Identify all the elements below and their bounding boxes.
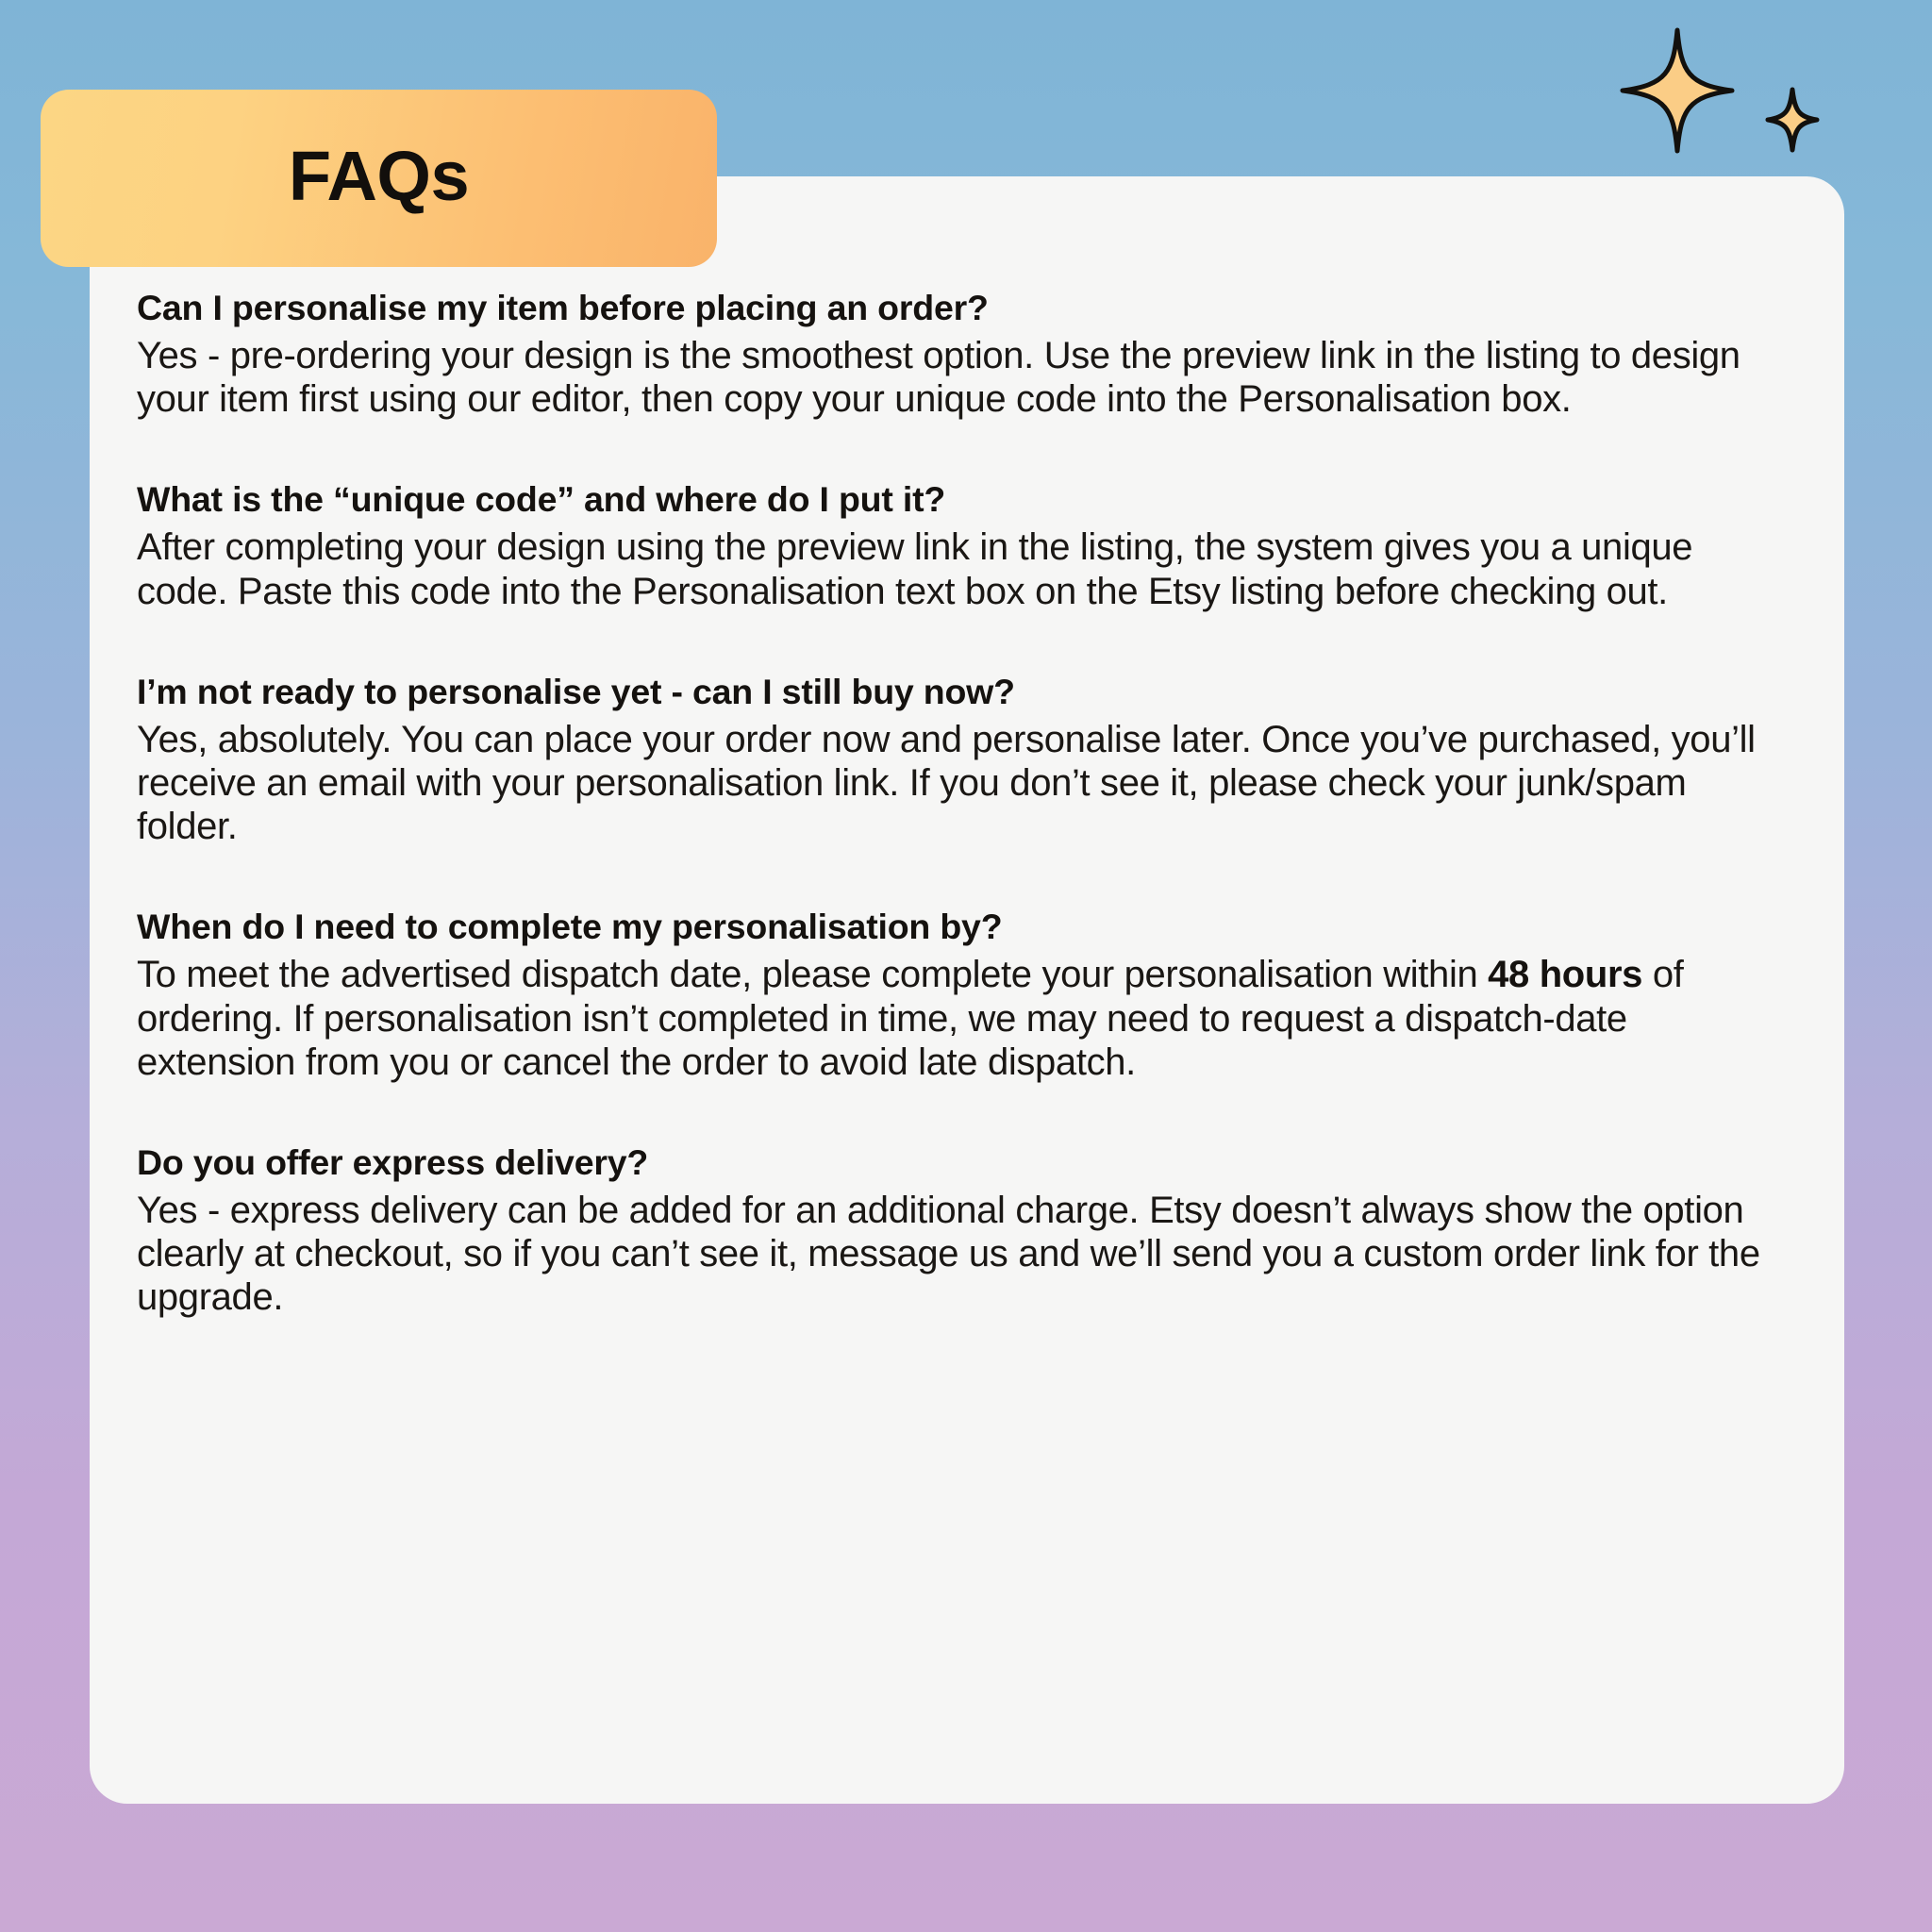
faq-badge: FAQs [41, 90, 717, 267]
faq-answer-text: Yes, absolutely. You can place your orde… [137, 719, 1756, 847]
faq-answer: Yes - pre-ordering your design is the sm… [137, 334, 1778, 421]
faq-item: I’m not ready to personalise yet - can I… [137, 669, 1778, 849]
faq-card: Can I personalise my item before placing… [90, 176, 1844, 1804]
faq-answer: Yes - express delivery can be added for … [137, 1189, 1778, 1320]
sparkle-decoration-group [1581, 17, 1892, 187]
faq-answer-text: After completing your design using the p… [137, 526, 1692, 611]
faq-item: What is the “unique code” and where do I… [137, 476, 1778, 612]
faq-answer: Yes, absolutely. You can place your orde… [137, 718, 1778, 849]
faq-question: I’m not ready to personalise yet - can I… [137, 669, 1778, 714]
faq-item: When do I need to complete my personalis… [137, 904, 1778, 1084]
faq-item: Do you offer express delivery?Yes - expr… [137, 1140, 1778, 1320]
faq-badge-label: FAQs [289, 142, 469, 215]
faq-question: When do I need to complete my personalis… [137, 904, 1778, 949]
faq-answer: After completing your design using the p… [137, 525, 1778, 612]
faq-item: Can I personalise my item before placing… [137, 285, 1778, 421]
faq-question: Do you offer express delivery? [137, 1140, 1778, 1185]
faq-question: What is the “unique code” and where do I… [137, 476, 1778, 522]
faq-answer: To meet the advertised dispatch date, pl… [137, 953, 1778, 1084]
faq-question: Can I personalise my item before placing… [137, 285, 1778, 330]
faq-page: Can I personalise my item before placing… [0, 0, 1932, 1932]
faq-list: Can I personalise my item before placing… [137, 285, 1778, 1319]
faq-answer-emphasis: 48 hours [1488, 954, 1642, 995]
faq-answer-text: Yes - pre-ordering your design is the sm… [137, 335, 1740, 420]
sparkle-four-point-small-icon [1768, 90, 1817, 150]
sparkle-four-point-large-icon [1623, 30, 1732, 151]
faq-answer-text: To meet the advertised dispatch date, pl… [137, 954, 1488, 995]
faq-answer-text: Yes - express delivery can be added for … [137, 1190, 1760, 1318]
